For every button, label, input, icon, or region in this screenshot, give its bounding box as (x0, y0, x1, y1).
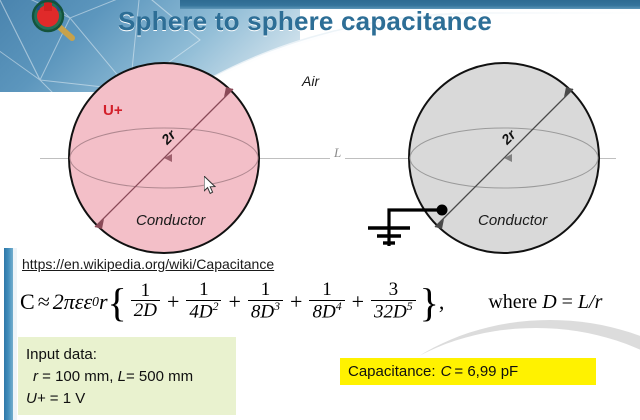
formula-prefactor: 2πεε (53, 289, 92, 315)
formula-plus-4: + (352, 289, 364, 315)
left-accent-rail (4, 248, 13, 420)
capacitance-formula: C ≈ 2πεε0r { 1 2D + 1 4D2 + 1 8D3 + 1 8D… (20, 278, 624, 326)
term-2-var: D (199, 301, 213, 322)
wikipedia-reference-link[interactable]: https://en.wikipedia.org/wiki/Capacitanc… (22, 256, 274, 272)
term-5-exp: 5 (407, 300, 413, 313)
result-label: Capacitance: (348, 363, 436, 380)
capacitance-result-box: Capacitance: C = 6,99 pF (340, 358, 596, 385)
formula-term-2: 1 4D2 (186, 280, 221, 322)
page-title: Sphere to sphere capacitance (118, 6, 492, 37)
term-3-exp: 3 (274, 300, 280, 313)
right-sphere-material-label: Conductor (478, 212, 547, 229)
term-4-var: D (322, 301, 336, 322)
formula-lhs: C (20, 289, 35, 315)
term-5-denominator: 32D5 (371, 300, 416, 322)
term-4-denominator: 8D4 (309, 300, 344, 322)
where-lhs: D (542, 291, 556, 313)
term-1-var: D (143, 300, 157, 321)
term-4-numerator: 1 (319, 280, 335, 299)
ground-symbol-icon (356, 180, 466, 252)
input-l-value: = 500 mm (126, 368, 193, 385)
term-2-denominator: 4D2 (186, 300, 221, 322)
input-u-value: = 1 V (46, 390, 86, 407)
formula-prefactor-sub: 0 (92, 294, 99, 310)
left-accent-rail-inner (13, 248, 17, 420)
formula-comma: , (439, 289, 445, 315)
distance-label-L: L (330, 145, 345, 161)
formula-where-clause: where D = L/r (488, 291, 602, 314)
term-2-numerator: 1 (196, 280, 212, 299)
input-l-symbol: L (118, 368, 126, 385)
input-data-heading: Input data: (26, 344, 236, 366)
term-3-coef: 8 (251, 301, 261, 322)
input-data-voltage: U+ = 1 V (26, 388, 236, 410)
term-1-denominator: 2D (131, 300, 160, 321)
where-word: where (488, 291, 537, 313)
term-5-coef: 32 (374, 301, 393, 322)
term-4-coef: 8 (312, 301, 322, 322)
formula-plus-1: + (167, 289, 179, 315)
input-data-box: Input data: r = 100 mm, L= 500 mm U+ = 1… (18, 337, 236, 415)
where-rhs: L/r (578, 291, 602, 313)
slide-canvas: Sphere to sphere capacitance U+ 2r Condu… (0, 0, 640, 420)
formula-plus-2: + (228, 289, 240, 315)
formula-term-5: 3 32D5 (371, 280, 416, 322)
term-1-numerator: 1 (138, 281, 154, 300)
term-3-numerator: 1 (258, 280, 274, 299)
term-3-var: D (260, 301, 274, 322)
capacitance-diagram: U+ 2r Conductor 2r Conductor Air L (0, 40, 640, 260)
result-value: = 6,99 pF (454, 363, 518, 380)
left-sphere-potential-label: U+ (103, 102, 123, 119)
mouse-pointer-icon (204, 176, 218, 196)
term-5-numerator: 3 (386, 280, 402, 299)
formula-radius-symbol: r (99, 289, 108, 315)
term-4-exp: 4 (336, 300, 342, 313)
formula-term-1: 1 2D (131, 281, 160, 321)
magnifier-molecule-logo-icon (26, 0, 90, 44)
formula-plus-3: + (290, 289, 302, 315)
input-r-value: = 100 mm, (38, 368, 113, 385)
formula-term-4: 1 8D4 (309, 280, 344, 322)
term-2-coef: 4 (189, 301, 199, 322)
where-equals: = (562, 291, 573, 313)
term-2-exp: 2 (213, 300, 219, 313)
formula-approx-sign: ≈ (38, 289, 50, 315)
left-sphere-material-label: Conductor (136, 212, 205, 229)
result-symbol: C (436, 363, 455, 380)
medium-label-air: Air (302, 73, 319, 89)
formula-term-3: 1 8D3 (248, 280, 283, 322)
term-3-denominator: 8D3 (248, 300, 283, 322)
input-u-symbol: U+ (26, 390, 46, 407)
term-5-var: D (393, 301, 407, 322)
term-1-coef: 2 (134, 300, 144, 321)
input-data-dimensions: r = 100 mm, L= 500 mm (26, 366, 236, 388)
